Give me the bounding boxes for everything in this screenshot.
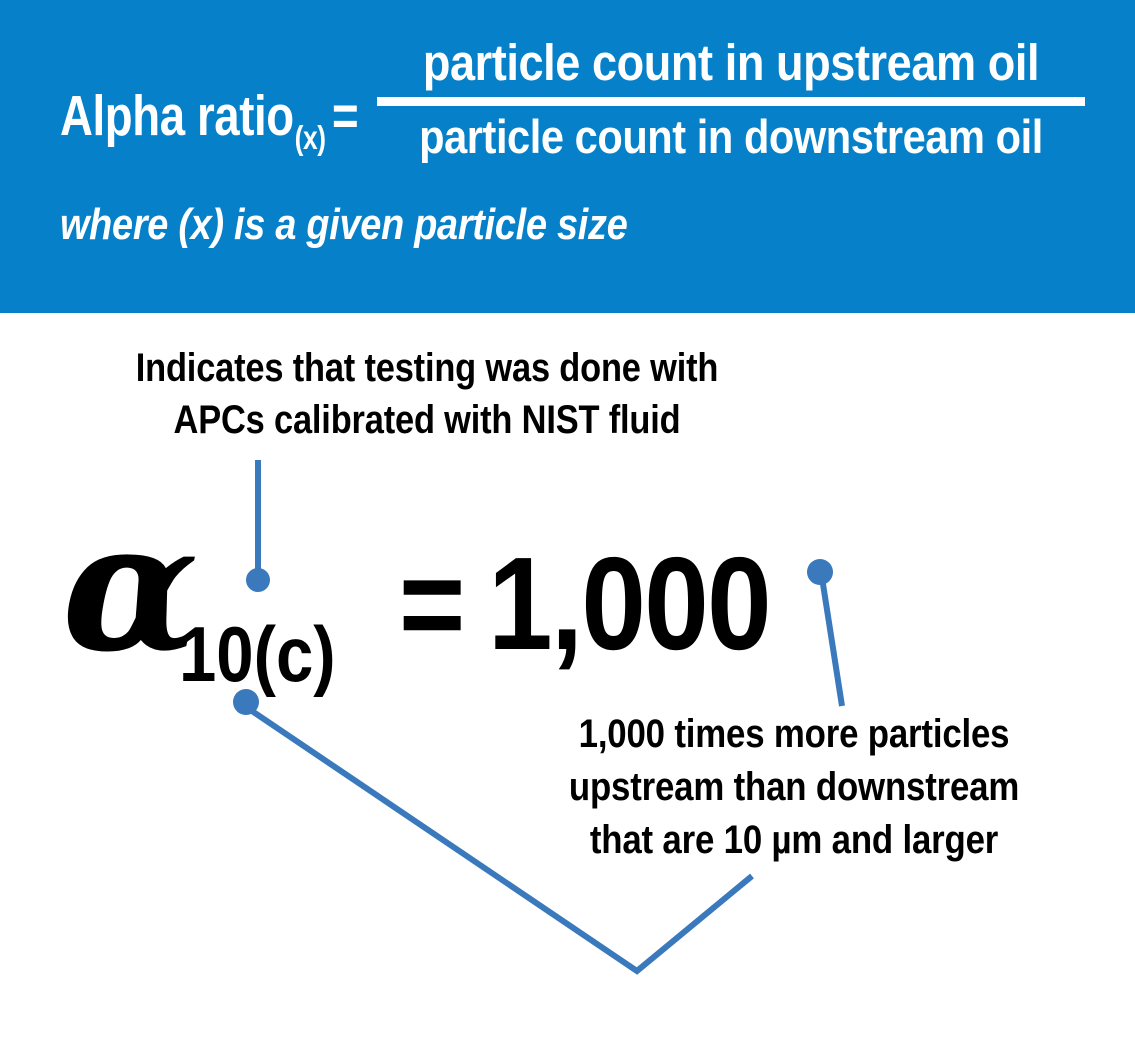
alpha-ratio-subscript: (x)	[295, 121, 326, 154]
alpha-equation-subscript: 10(c)	[179, 615, 336, 693]
ratio-fraction: particle count in upstream oil particle …	[377, 36, 1085, 162]
header-band: Alpha ratio(x) = particle count in upstr…	[0, 0, 1135, 313]
fraction-denominator: particle count in downstream oil	[418, 112, 1045, 162]
alpha-symbol: α	[62, 498, 195, 676]
alpha-ratio-label: Alpha ratio(x)	[60, 88, 326, 145]
leader-to-value-line	[823, 584, 842, 706]
fraction-bar	[377, 97, 1085, 106]
equation-equals-sign: =	[399, 538, 465, 670]
callout-bottom-line-2: upstream than downstream	[536, 761, 1051, 814]
callout-bottom-line-1: 1,000 times more particles	[536, 708, 1051, 761]
header-equals-sign: =	[332, 88, 359, 145]
callout-bottom: 1,000 times more particles upstream than…	[498, 708, 1090, 866]
alpha-ratio-label-text: Alpha ratio	[60, 88, 294, 145]
infographic-page: Alpha ratio(x) = particle count in upstr…	[0, 0, 1135, 1040]
header-note: where (x) is a given particle size	[60, 203, 627, 247]
callout-top: Indicates that testing was done with APC…	[42, 342, 812, 446]
callout-top-line-1: Indicates that testing was done with	[96, 342, 758, 394]
fraction-numerator: particle count in upstream oil	[418, 36, 1045, 90]
callout-bottom-line-3: that are 10 µm and larger	[536, 814, 1051, 867]
callout-top-line-2: APCs calibrated with NIST fluid	[96, 394, 758, 446]
alpha-equation: α 10(c) = 1,000	[62, 498, 809, 676]
leader-to-value-dot	[807, 559, 833, 585]
equation-value: 1,000	[488, 538, 770, 670]
